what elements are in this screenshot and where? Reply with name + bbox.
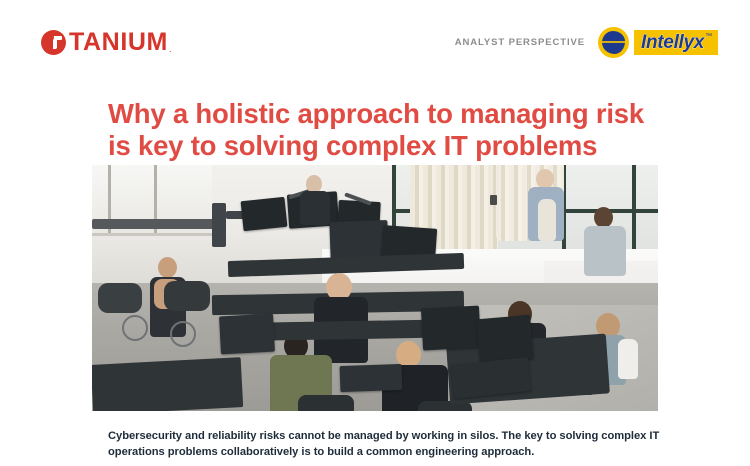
- photo-monitor: [421, 306, 481, 351]
- photo-chair-base: [122, 315, 148, 341]
- photo-monitor: [476, 315, 534, 364]
- eyebrow-label: ANALYST PERSPECTIVE: [455, 37, 585, 48]
- tanium-mark-icon: [41, 30, 66, 55]
- photo-chair-base: [170, 321, 196, 347]
- photo-wall-sensor: [490, 195, 497, 205]
- tanium-logo[interactable]: TANIUM .: [41, 28, 171, 56]
- globe-icon: [598, 27, 629, 58]
- document-page: TANIUM . ANALYST PERSPECTIVE Intellyx ™ …: [0, 0, 750, 466]
- photo-keyboard: [340, 364, 403, 392]
- page-title-line-1: Why a holistic approach to managing risk: [108, 98, 644, 129]
- hero-image: [92, 165, 658, 411]
- page-title: Why a holistic approach to managing risk…: [108, 98, 668, 162]
- photo-monitor: [329, 220, 388, 260]
- intellyx-wordmark: Intellyx: [641, 33, 704, 52]
- photo-desk: [92, 219, 218, 229]
- photo-monitor: [219, 314, 275, 355]
- photo-chair: [98, 283, 142, 313]
- image-caption: Cybersecurity and reliability risks cann…: [108, 428, 664, 460]
- intellyx-trademark: ™: [705, 30, 712, 40]
- photo-chair: [298, 395, 354, 411]
- page-title-line-2: is key to solving complex IT problems: [108, 130, 668, 162]
- intellyx-logo[interactable]: Intellyx ™: [598, 26, 712, 58]
- photo-desk: [92, 357, 243, 411]
- photo-chair: [164, 281, 210, 311]
- page-header: TANIUM . ANALYST PERSPECTIVE Intellyx ™: [0, 0, 750, 72]
- image-caption-line-1: Cybersecurity and reliability risks cann…: [108, 430, 598, 442]
- photo-monitor: [241, 197, 288, 231]
- tanium-trademark: .: [169, 44, 172, 56]
- intellyx-wordmark-box: Intellyx ™: [634, 30, 718, 55]
- photo-divider: [212, 203, 226, 247]
- tanium-wordmark: TANIUM: [69, 29, 168, 55]
